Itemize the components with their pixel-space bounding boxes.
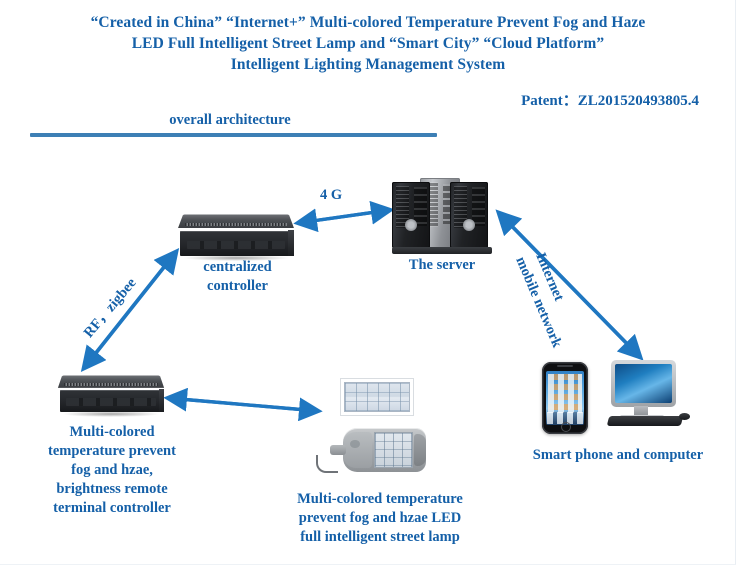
- server-base: [392, 247, 492, 254]
- title-line-2: LED Full Intelligent Street Lamp and “Sm…: [0, 33, 736, 54]
- lamp-led-array: [374, 432, 412, 467]
- controller-side-panel: [159, 389, 164, 412]
- link-label-rf-zigbee: RF，zigbee: [80, 274, 140, 341]
- controller-front-face: [180, 231, 291, 256]
- section-heading: overall architecture: [0, 112, 460, 129]
- caption-terminal-controller: Multi-colored temperature prevent fog an…: [22, 423, 202, 518]
- controller-shadow: [62, 411, 160, 417]
- computer-mouse: [679, 413, 690, 420]
- lamp-tail-cap: [414, 434, 426, 466]
- phone-app-grid: [548, 374, 582, 413]
- lamp-power-cable: [316, 455, 338, 473]
- arrow-server-devices: [499, 213, 640, 357]
- phone-home-button: [561, 422, 571, 432]
- server-logo: [463, 219, 475, 231]
- phone-earpiece: [557, 365, 573, 367]
- device-terminal-controller: [58, 370, 164, 412]
- controller-side-panel: [288, 230, 294, 256]
- arrow-terminal-lamp: [168, 398, 318, 411]
- server-drive-bays: [414, 187, 427, 225]
- computer-monitor: [611, 360, 676, 407]
- caption-smart-phone-and-computer: Smart phone and computer: [500, 446, 736, 465]
- title-line-3: Intelligent Lighting Management System: [0, 54, 736, 75]
- controller-front-face: [60, 390, 162, 412]
- device-centralized-controller: [178, 208, 294, 256]
- device-smartphone: [542, 362, 588, 434]
- page-title: “Created in China” “Internet+” Multi-col…: [0, 12, 736, 75]
- caption-server: The server: [382, 256, 502, 275]
- device-led-panel: [340, 378, 414, 416]
- device-computer: [604, 360, 692, 436]
- phone-screen: [546, 371, 584, 425]
- caption-centralized-controller: centralized controller: [165, 258, 310, 296]
- link-label-4g: 4 G: [320, 186, 342, 204]
- lamp-head: [343, 432, 372, 469]
- section-divider: [30, 133, 437, 137]
- computer-keyboard: [606, 416, 682, 426]
- server-tower-right: [450, 182, 488, 248]
- device-server-group: [392, 172, 492, 254]
- device-street-lamp: [330, 428, 426, 472]
- led-panel-grid: [344, 382, 410, 412]
- lamp-mounting-arm: [330, 445, 346, 456]
- computer-display: [615, 364, 672, 403]
- caption-street-lamp: Multi-colored temperature prevent fog an…: [258, 490, 502, 547]
- title-line-1: “Created in China” “Internet+” Multi-col…: [0, 12, 736, 33]
- diagram-canvas: “Created in China” “Internet+” Multi-col…: [0, 0, 735, 564]
- server-tower-left: [392, 182, 430, 248]
- server-logo: [405, 219, 417, 231]
- controller-vent: [185, 223, 287, 226]
- controller-vent: [64, 383, 157, 386]
- server-drive-bays: [472, 187, 485, 225]
- patent-number: Patent：ZL201520493805.4: [521, 89, 699, 110]
